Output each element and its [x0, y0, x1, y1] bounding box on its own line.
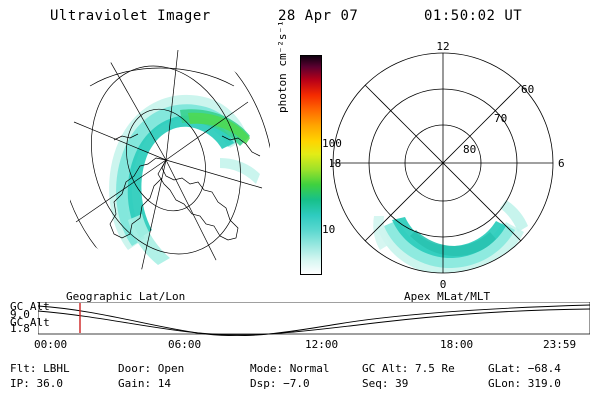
gcalt-value: 7.5 Re: [415, 362, 455, 375]
dsp-value: −7.0: [283, 377, 310, 390]
colorbar: photon cm⁻²s⁻¹ 100 10: [282, 55, 328, 285]
altitude-timeline: Geographic Lat/Lon Apex MLat/MLT GC Alt …: [0, 292, 600, 352]
time-tick-3: 18:00: [440, 338, 473, 351]
header: Ultraviolet Imager 28 Apr 07 01:50:02 UT: [0, 6, 600, 28]
door-label: Door:: [118, 362, 151, 375]
mlat-label-60: 60: [521, 83, 534, 96]
apex-panel: 12 0 18 6 60 70 80: [330, 40, 570, 290]
flt-field: Flt: LBHL: [10, 362, 70, 375]
mlt-label-18: 18: [330, 157, 341, 170]
status-footer: Flt: LBHL Door: Open Mode: Normal GC Alt…: [0, 362, 600, 398]
seq-field: Seq: 39: [362, 377, 408, 390]
apex-plot: 12 0 18 6 60 70 80: [330, 40, 570, 290]
geographic-panel: [70, 40, 270, 290]
time-tick-1: 06:00: [168, 338, 201, 351]
door-value: Open: [158, 362, 185, 375]
flt-label: Flt:: [10, 362, 37, 375]
ip-field: IP: 36.0: [10, 377, 63, 390]
glon-field: GLon: 319.0: [488, 377, 561, 390]
mlt-spokes: [333, 53, 553, 273]
observation-date: 28 Apr 07: [278, 8, 358, 24]
instrument-title: Ultraviolet Imager: [50, 8, 211, 24]
ip-label: IP:: [10, 377, 30, 390]
aurora-emission-right: [373, 200, 528, 276]
mlat-label-80: 80: [463, 143, 476, 156]
gcalt-label: GC Alt:: [362, 362, 408, 375]
door-field: Door: Open: [118, 362, 184, 375]
time-tick-4: 23:59: [543, 338, 576, 351]
seq-value: 39: [395, 377, 408, 390]
glat-label: GLat:: [488, 362, 521, 375]
gcalt-field: GC Alt: 7.5 Re: [362, 362, 455, 375]
mode-field: Mode: Normal: [250, 362, 330, 375]
mode-label: Mode:: [250, 362, 283, 375]
colorbar-axis-label: photon cm⁻²s⁻¹: [276, 20, 289, 113]
gain-field: Gain: 14: [118, 377, 171, 390]
time-tick-2: 12:00: [305, 338, 338, 351]
gcalt-axis-label-2: GC Alt: [10, 316, 50, 329]
gain-label: Gain:: [118, 377, 151, 390]
flt-value: LBHL: [43, 362, 70, 375]
mlt-label-0: 0: [440, 278, 447, 290]
seq-label: Seq:: [362, 377, 389, 390]
dsp-field: Dsp: −7.0: [250, 377, 310, 390]
time-tick-0: 00:00: [34, 338, 67, 351]
altitude-curve: [38, 302, 590, 336]
glon-label: GLon:: [488, 377, 521, 390]
observation-time: 01:50:02 UT: [424, 8, 522, 24]
glat-field: GLat: −68.4: [488, 362, 561, 375]
mlt-label-6: 6: [558, 157, 565, 170]
dsp-label: Dsp:: [250, 377, 277, 390]
mode-value: Normal: [290, 362, 330, 375]
mlt-label-12: 12: [436, 40, 449, 53]
mlat-label-70: 70: [494, 112, 507, 125]
colorbar-gradient: [300, 55, 322, 275]
gain-value: 14: [158, 377, 171, 390]
geographic-plot: [70, 40, 270, 290]
graticule-left: [70, 40, 270, 290]
glon-value: 319.0: [528, 377, 561, 390]
ip-value: 36.0: [37, 377, 64, 390]
glat-value: −68.4: [528, 362, 561, 375]
